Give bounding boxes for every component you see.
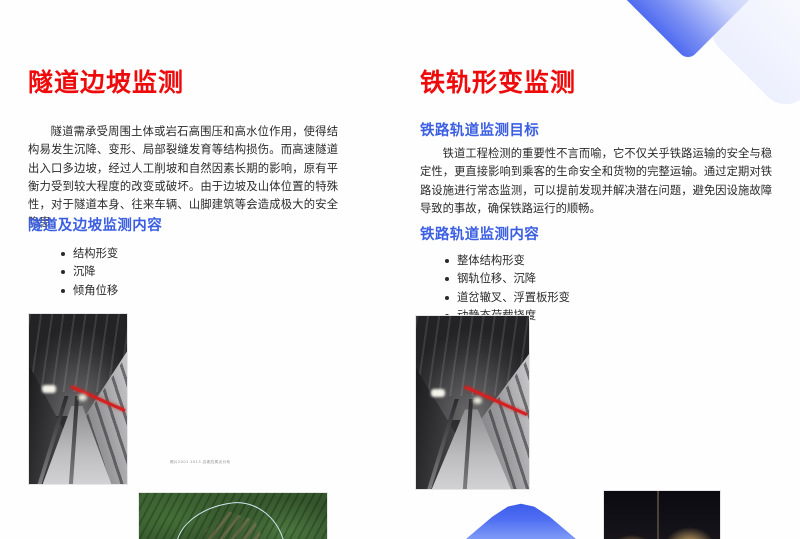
night-railway-photo <box>603 490 721 539</box>
left-bullet-list: 结构形变 沉降 倾角位移 <box>60 245 118 300</box>
left-section-heading: 隧道及边坡监测内容 <box>28 219 162 234</box>
right-paragraph: 铁道工程检测的重要性不言而喻，它不仅关乎铁路运输的安全与稳定性，更直接影响到乘客… <box>420 145 772 218</box>
left-column: 隧道边坡监测 隧道需承受周围土体或岩石高围压和高水位作用，使得结构易发生沉降、变… <box>28 0 378 302</box>
list-item: 整体结构形变 <box>444 252 570 270</box>
poster-page: 隧道边坡监测 隧道需承受周围土体或岩石高围压和高水位作用，使得结构易发生沉降、变… <box>0 0 800 539</box>
slope-aerial-photo <box>138 492 328 539</box>
tunnel-interior-photo <box>28 313 128 485</box>
list-item: 结构形变 <box>60 245 118 263</box>
right-page-title: 铁轨形变监测 <box>420 70 576 95</box>
list-item: 沉降 <box>60 263 118 281</box>
list-item: 钢轨位移、沉降 <box>444 270 570 288</box>
left-paragraph: 隧道需承受周围土体或岩石高围压和高水位作用，使得结构易发生沉降、变形、局部裂缝发… <box>28 123 338 233</box>
right-column: 铁轨形变监测 铁路轨道监测目标 铁道工程检测的重要性不言而喻，它不仅关乎铁路运输… <box>420 0 775 375</box>
slope-photo-caption: 照片2001 2013 边坡四周点分布 <box>170 460 231 465</box>
list-item: 倾角位移 <box>60 282 118 300</box>
railway-tunnel-photo <box>415 315 530 490</box>
left-page-title: 隧道边坡监测 <box>28 70 184 95</box>
blue-hill-shape <box>466 503 576 539</box>
right-content-heading: 铁路轨道监测内容 <box>420 228 539 243</box>
list-item: 道岔辙叉、浮置板形变 <box>444 289 570 307</box>
right-goal-heading: 铁路轨道监测目标 <box>420 124 539 139</box>
